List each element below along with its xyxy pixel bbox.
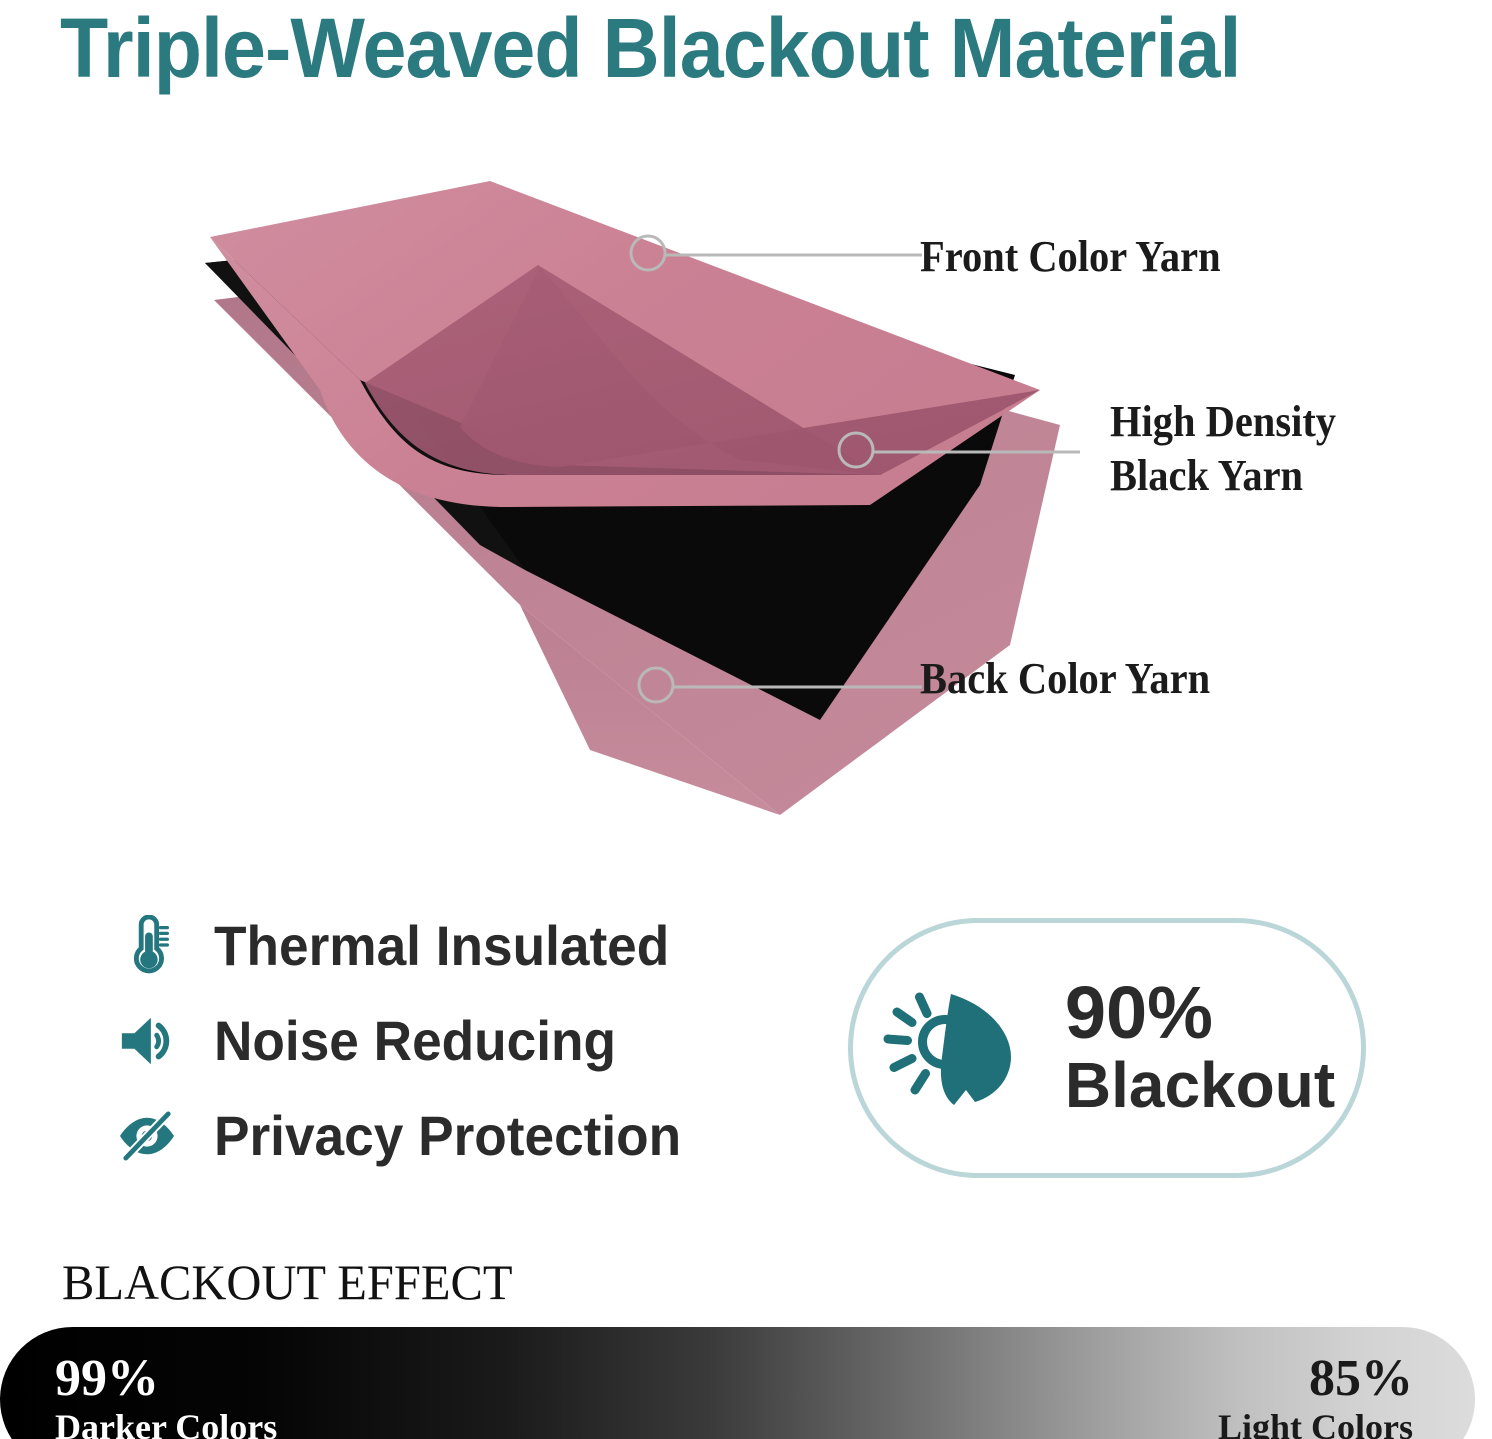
feature-item-privacy: Privacy Protection [112,1088,812,1183]
gradient-left-percent: 99% [55,1350,159,1407]
feature-item-thermal: Thermal Insulated [112,898,812,993]
gradient-right-block: 85% Light Colors [1218,1352,1413,1439]
blackout-effect-heading: BLACKOUT EFFECT [62,1255,512,1309]
badge-text-block: 90% Blackout [1065,976,1335,1120]
badge-word: Blackout [1065,1049,1335,1121]
gradient-left-label: Darker Colors [55,1407,277,1439]
gradient-right-label: Light Colors [1218,1407,1413,1439]
blackout-gradient-bar: 99% Darker Colors 85% Light Colors [0,1327,1475,1439]
callout-label-back: Back Color Yarn [920,652,1210,706]
callout-label-front: Front Color Yarn [920,230,1221,284]
eye-off-icon [112,1101,182,1171]
infographic-page: Triple-Weaved Blackout Material [0,0,1492,1439]
callout-label-black: High Density Black Yarn [1110,395,1336,503]
blackout-badge: 90% Blackout [848,918,1366,1178]
feature-item-noise: Noise Reducing [112,993,812,1088]
thermometer-icon [112,911,182,981]
sun-blocked-icon [879,973,1029,1123]
front-color-yarn-layer [210,181,1040,507]
feature-label-thermal: Thermal Insulated [214,916,669,976]
gradient-left-block: 99% Darker Colors [55,1352,277,1439]
badge-percent: 90% [1065,971,1213,1054]
feature-label-noise: Noise Reducing [214,1011,616,1071]
feature-label-privacy: Privacy Protection [214,1106,681,1166]
page-title: Triple-Weaved Blackout Material [60,2,1376,94]
speaker-icon [112,1006,182,1076]
gradient-right-percent: 85% [1309,1350,1413,1407]
feature-list: Thermal Insulated Noise Reducing [112,898,812,1183]
